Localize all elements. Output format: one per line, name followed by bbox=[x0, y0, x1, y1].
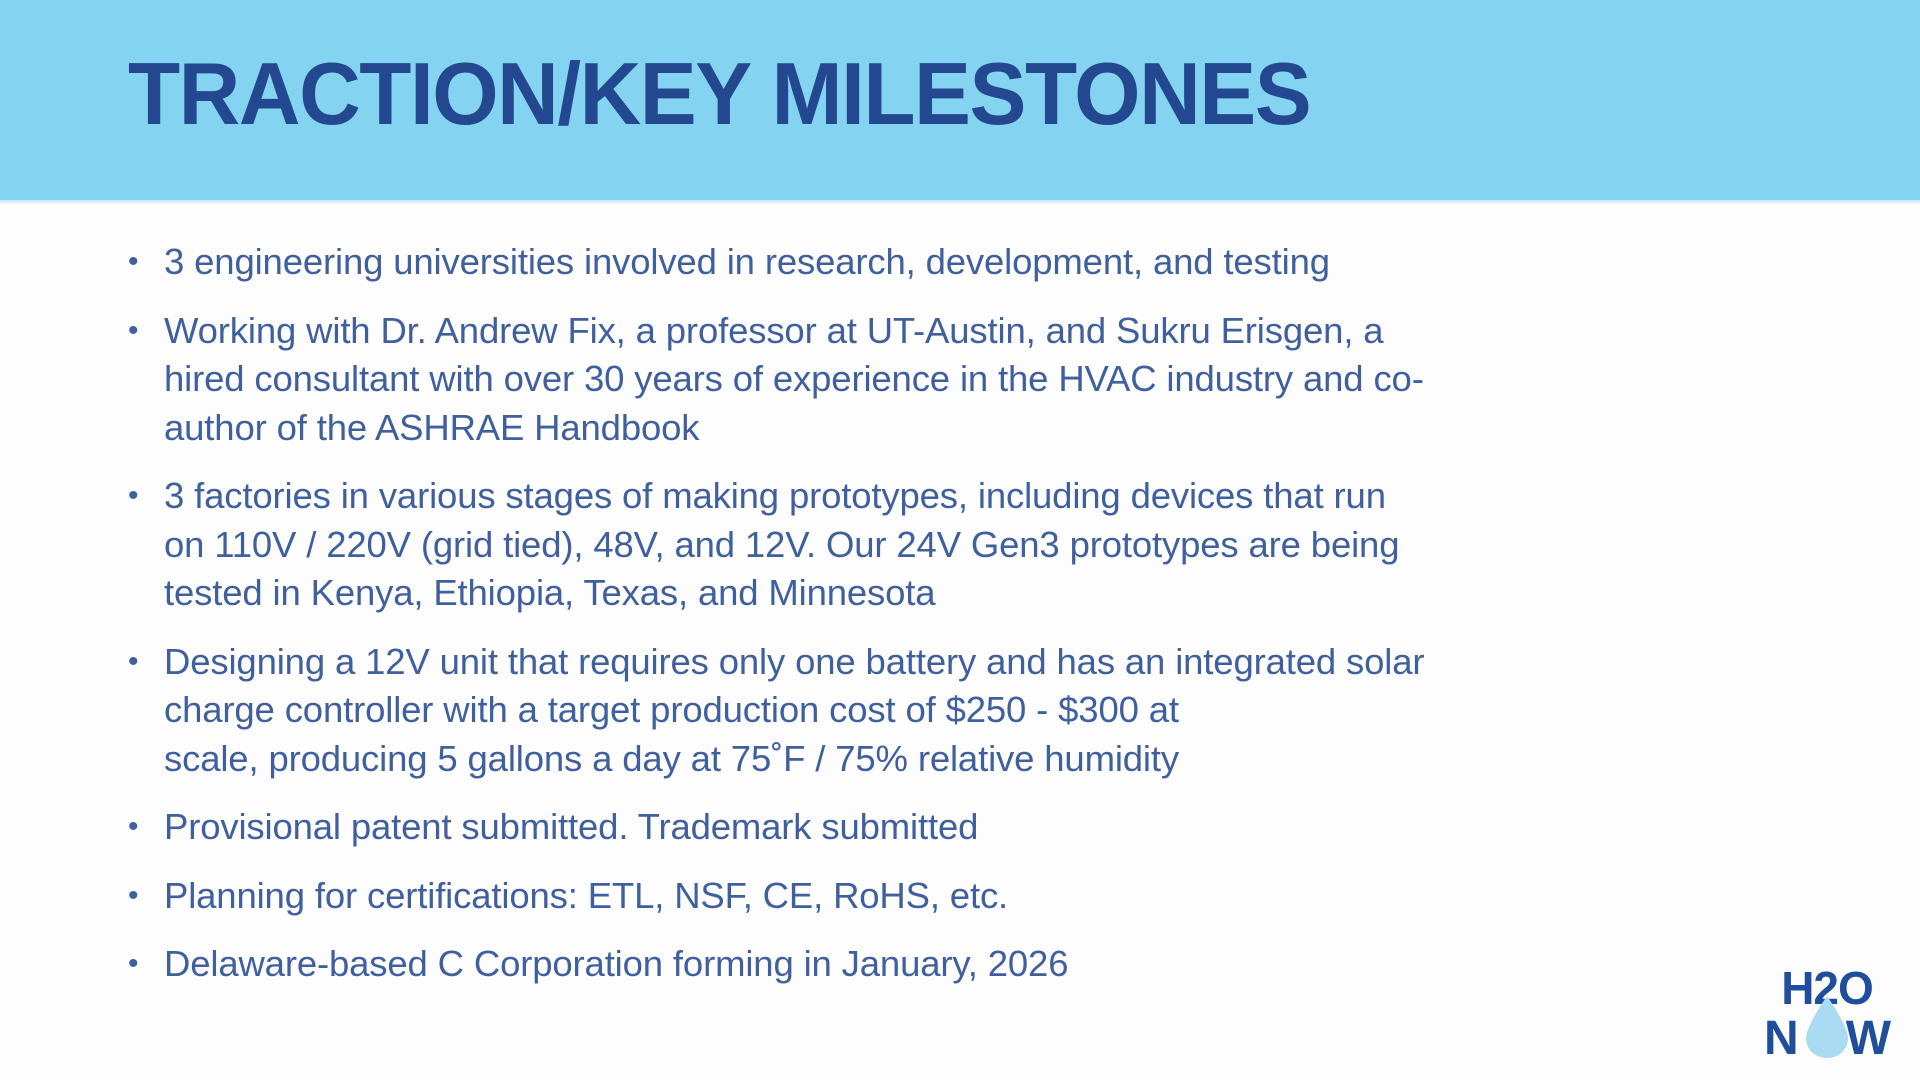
list-item: • Delaware-based C Corporation forming i… bbox=[118, 940, 1798, 989]
list-item: • 3 engineering universities involved in… bbox=[118, 238, 1798, 287]
h2o-now-logo: H2O N W bbox=[1762, 958, 1892, 1066]
list-item: • Planning for certifications: ETL, NSF,… bbox=[118, 872, 1798, 921]
bullet-marker-icon: • bbox=[128, 940, 148, 989]
bullet-marker-icon: • bbox=[128, 803, 148, 852]
bullet-text: Planning for certifications: ETL, NSF, C… bbox=[164, 872, 1798, 921]
bullet-marker-icon: • bbox=[128, 472, 148, 521]
bullet-text: 3 factories in various stages of making … bbox=[164, 472, 1798, 618]
slide-canvas: TRACTION/KEY MILESTONES • 3 engineering … bbox=[0, 0, 1920, 1080]
list-item: • Designing a 12V unit that requires onl… bbox=[118, 638, 1798, 784]
bullet-text: 3 engineering universities involved in r… bbox=[164, 238, 1798, 287]
bullet-text: Designing a 12V unit that requires only … bbox=[164, 638, 1798, 784]
list-item: • 3 factories in various stages of makin… bbox=[118, 472, 1798, 618]
logo-line2-right-text: W bbox=[1846, 1012, 1892, 1065]
header-band-shadow bbox=[0, 200, 1920, 205]
bullet-text: Delaware-based C Corporation forming in … bbox=[164, 940, 1798, 989]
list-item: • Provisional patent submitted. Trademar… bbox=[118, 803, 1798, 852]
bullet-marker-icon: • bbox=[128, 238, 148, 287]
bullet-marker-icon: • bbox=[128, 307, 148, 356]
bullet-marker-icon: • bbox=[128, 872, 148, 921]
bullet-text: Provisional patent submitted. Trademark … bbox=[164, 803, 1798, 852]
bullet-marker-icon: • bbox=[128, 638, 148, 687]
logo-line2-left-text: N bbox=[1764, 1012, 1798, 1065]
bullet-list: • 3 engineering universities involved in… bbox=[118, 238, 1798, 989]
bullet-text: Working with Dr. Andrew Fix, a professor… bbox=[164, 307, 1798, 453]
list-item: • Working with Dr. Andrew Fix, a profess… bbox=[118, 307, 1798, 453]
logo-icon: H2O N W bbox=[1762, 958, 1892, 1066]
page-title: TRACTION/KEY MILESTONES bbox=[128, 46, 1310, 141]
